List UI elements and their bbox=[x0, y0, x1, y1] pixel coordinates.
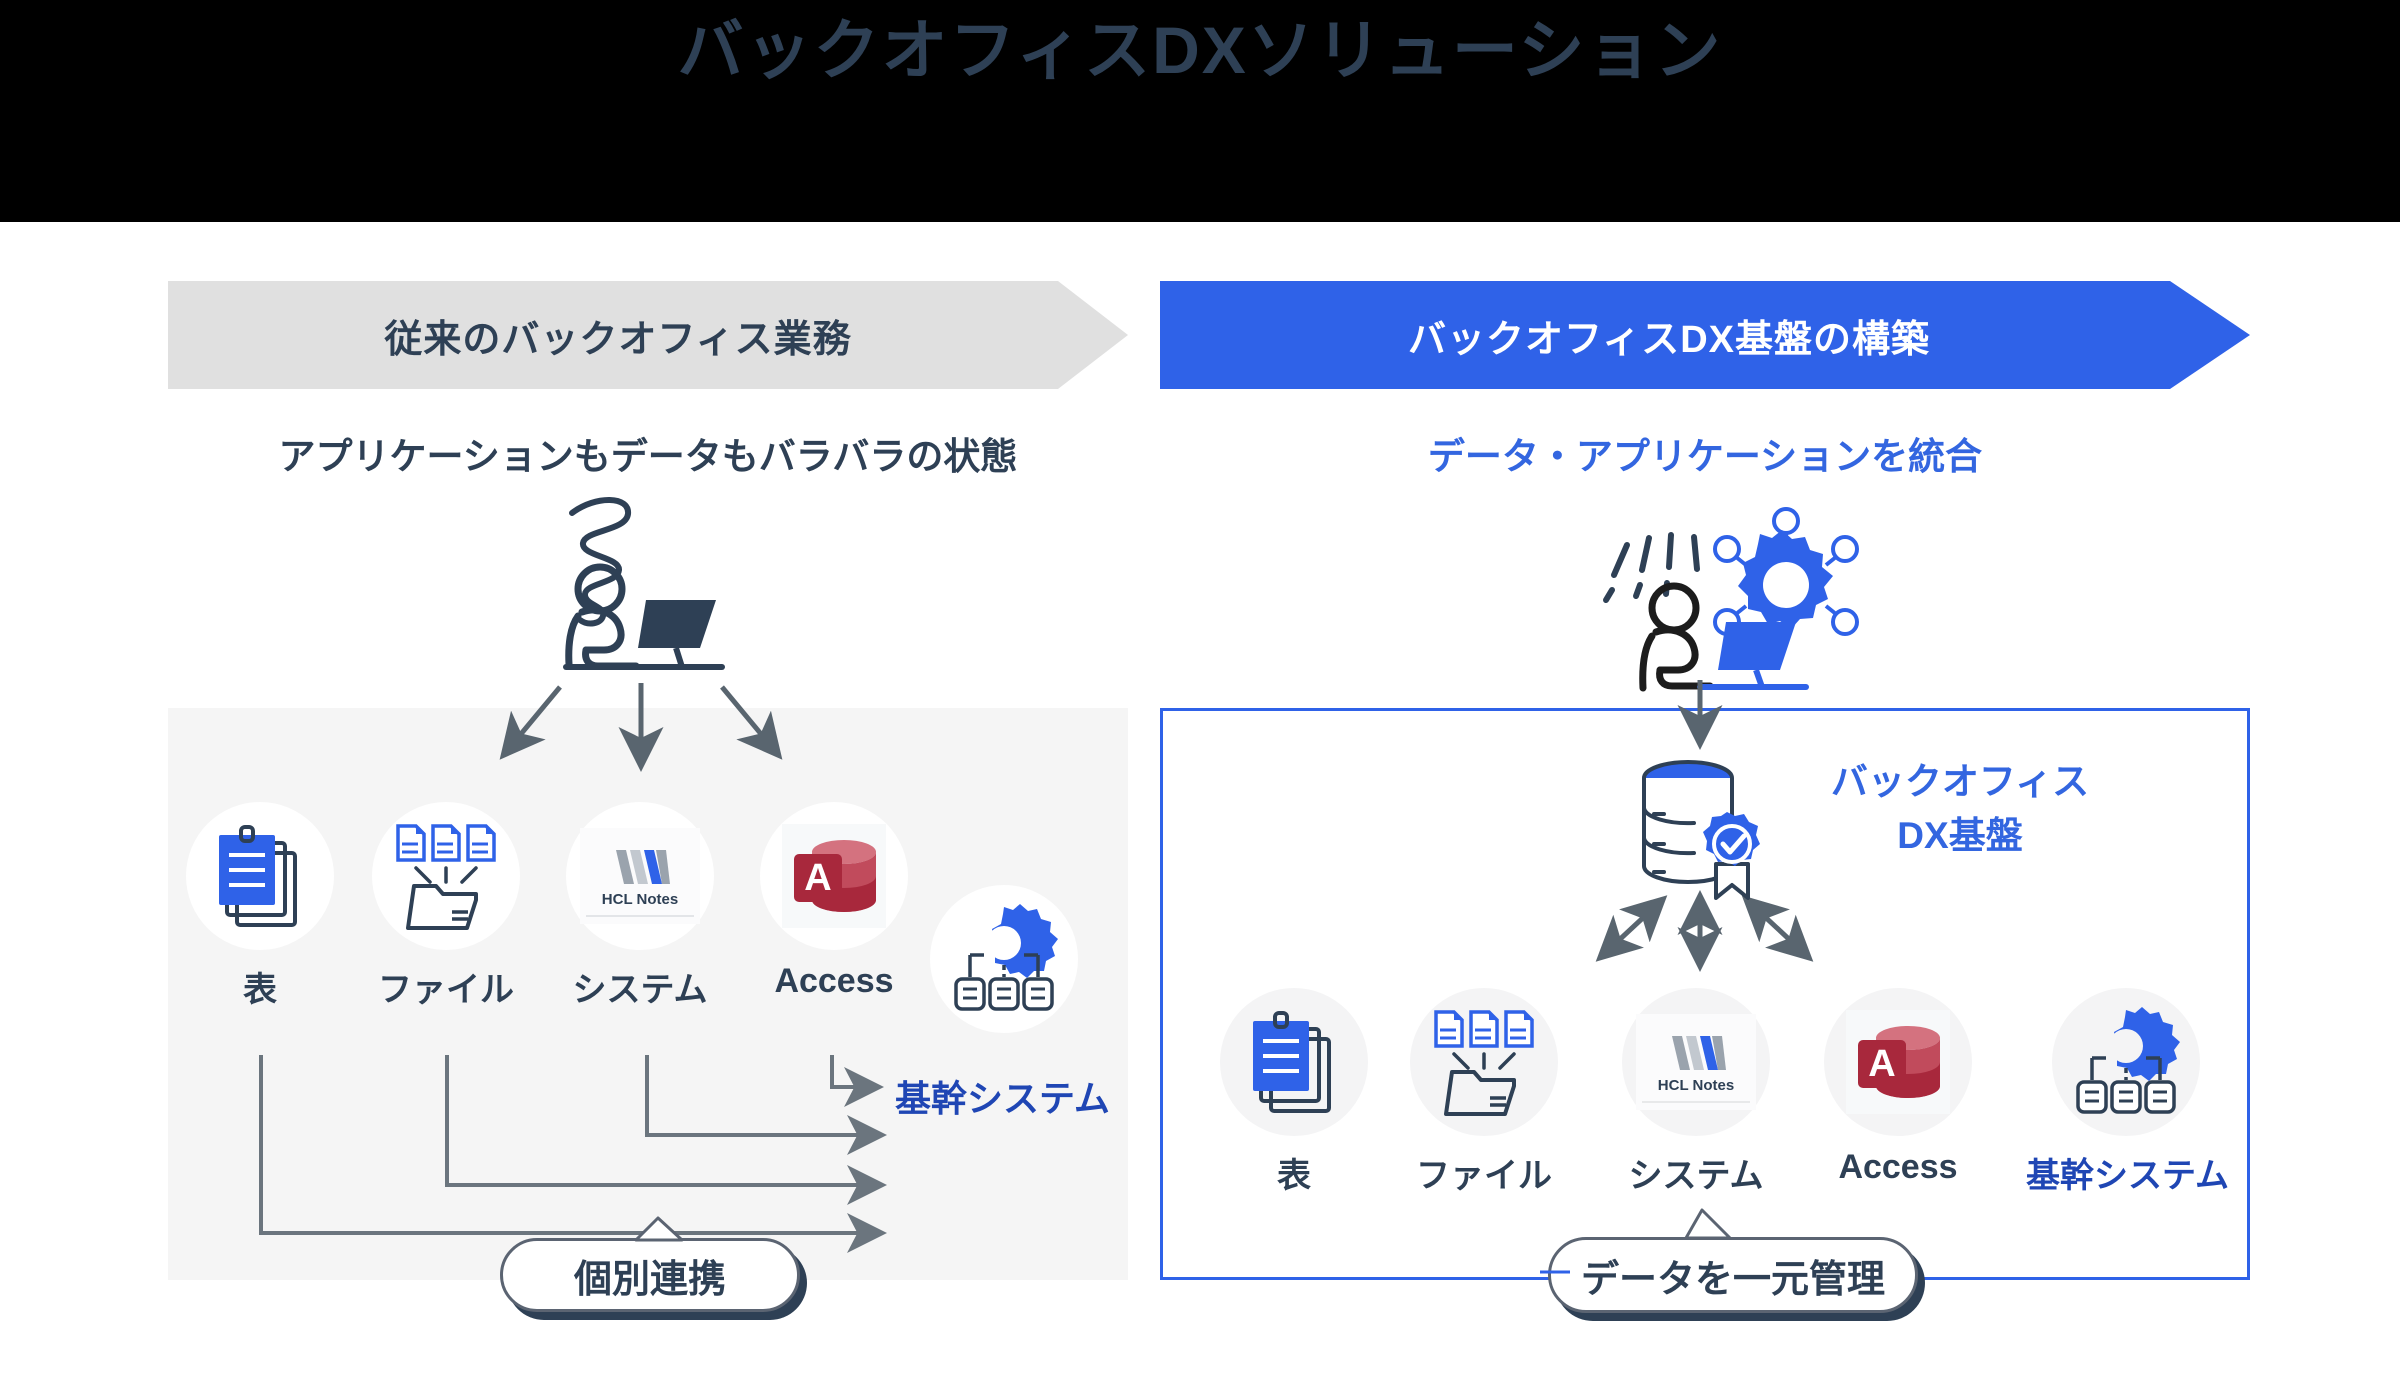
certified-database-icon bbox=[1628, 752, 1778, 902]
right-item-system[interactable]: HCL Notes システム bbox=[1622, 988, 1770, 1197]
dx-platform-label-line1: バックオフィス bbox=[1800, 755, 2120, 809]
right-item-table[interactable]: 表 bbox=[1220, 988, 1368, 1197]
svg-text:A: A bbox=[804, 857, 831, 899]
page-title: バックオフィスDXソリューション bbox=[0, 4, 2400, 96]
left-item-table[interactable]: 表 bbox=[186, 802, 334, 1011]
right-item-label: 表 bbox=[1220, 1148, 1368, 1197]
gear-servers-icon bbox=[2052, 988, 2200, 1136]
right-item-label: ファイル bbox=[1410, 1148, 1558, 1197]
left-item-access[interactable]: A Access bbox=[760, 802, 908, 1001]
clipboard-table-icon bbox=[186, 802, 334, 950]
microsoft-access-icon: A bbox=[760, 802, 908, 950]
left-item-file[interactable]: ファイル bbox=[372, 802, 520, 1011]
right-subheading: データ・アプリケーションを統合 bbox=[1160, 426, 2250, 480]
right-callout[interactable]: データを一元管理 bbox=[1548, 1237, 1918, 1313]
left-item-label: Access bbox=[760, 962, 908, 1001]
right-item-label: システム bbox=[1622, 1148, 1770, 1197]
slide-canvas: バックオフィスDXソリューション 従来のバックオフィス業務 バックオフィスDX基… bbox=[0, 0, 2400, 1374]
left-item-label: システム bbox=[566, 962, 714, 1011]
microsoft-access-icon: A bbox=[1824, 988, 1972, 1136]
title-bar: バックオフィスDXソリューション bbox=[0, 0, 2400, 222]
happy-person-at-computer-gear-icon bbox=[1606, 509, 1857, 716]
clipboard-table-icon bbox=[1220, 988, 1368, 1136]
left-core-system-label: 基幹システム bbox=[895, 1070, 1110, 1122]
dx-platform-icon-wrap[interactable] bbox=[1628, 752, 1778, 902]
gear-servers-icon bbox=[930, 885, 1078, 1033]
svg-text:A: A bbox=[1868, 1043, 1895, 1085]
svg-text:HCL Notes: HCL Notes bbox=[1658, 1077, 1734, 1094]
right-item-file[interactable]: ファイル bbox=[1410, 988, 1558, 1197]
right-banner-label: バックオフィスDX基盤の構築 bbox=[1408, 308, 1930, 363]
dx-platform-label: バックオフィス DX基盤 bbox=[1800, 755, 2120, 863]
left-item-core-system[interactable] bbox=[930, 885, 1078, 1033]
confused-person-at-computer-icon bbox=[566, 500, 722, 667]
right-column-banner: バックオフィスDX基盤の構築 bbox=[1160, 281, 2250, 389]
right-item-access[interactable]: A Access bbox=[1824, 988, 1972, 1187]
folder-documents-icon bbox=[372, 802, 520, 950]
left-item-system[interactable]: HCL Notes システム bbox=[566, 802, 714, 1011]
hcl-notes-icon: HCL Notes bbox=[1622, 988, 1770, 1136]
left-item-label: 表 bbox=[186, 962, 334, 1011]
right-item-label: Access bbox=[1824, 1148, 1972, 1187]
hcl-notes-icon: HCL Notes bbox=[566, 802, 714, 950]
right-item-label: 基幹システム bbox=[2026, 1148, 2226, 1197]
left-banner-label: 従来のバックオフィス業務 bbox=[384, 308, 851, 363]
left-item-label: ファイル bbox=[372, 962, 520, 1011]
svg-text:HCL Notes: HCL Notes bbox=[602, 891, 678, 908]
folder-documents-icon bbox=[1410, 988, 1558, 1136]
left-column-banner: 従来のバックオフィス業務 bbox=[168, 281, 1128, 389]
left-subheading: アプリケーションもデータもバラバラの状態 bbox=[168, 426, 1128, 480]
dx-platform-label-line2: DX基盤 bbox=[1800, 809, 2120, 863]
left-callout[interactable]: 個別連携 bbox=[500, 1238, 800, 1312]
right-item-core-system[interactable]: 基幹システム bbox=[2026, 988, 2226, 1197]
